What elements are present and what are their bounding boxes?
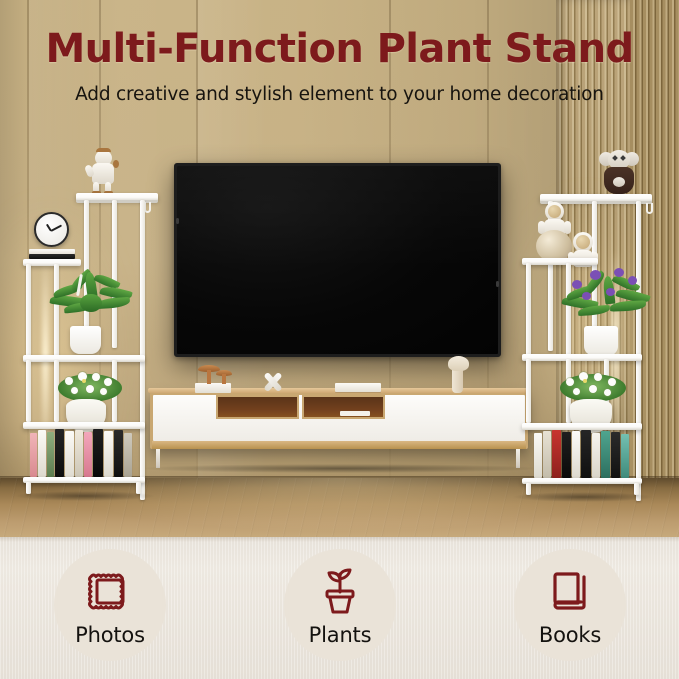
- stand-post: [26, 360, 31, 422]
- feature-label: Photos: [54, 623, 166, 647]
- copper-candle-stem: [207, 370, 211, 384]
- book-spine: [75, 430, 83, 477]
- feature-label: Plants: [284, 623, 396, 647]
- stand-base-shelf: [23, 477, 145, 483]
- tv-screen: [177, 166, 498, 354]
- left-plant-stand: [28, 150, 158, 495]
- feature-photos[interactable]: Photos: [54, 549, 166, 669]
- console-plinth: [152, 441, 526, 449]
- book-spine: [65, 431, 74, 477]
- stand-post: [26, 264, 31, 359]
- astronaut-figurine-large: [536, 202, 572, 260]
- book-spine: [562, 432, 571, 478]
- stand-post: [526, 359, 531, 423]
- book-spine: [93, 429, 103, 477]
- plant-pot-white: [584, 326, 618, 356]
- flower-bloom: [92, 373, 100, 381]
- stand-shadow: [14, 491, 156, 501]
- tv-mount-bracket: [496, 281, 499, 287]
- white-x-sculpture: [263, 372, 283, 392]
- photo-frame-icon: [82, 563, 138, 619]
- tv-console: [150, 392, 528, 468]
- wall-clock: [34, 212, 69, 247]
- console-shadow: [142, 464, 538, 473]
- book-spine: [47, 432, 54, 477]
- stand-base-shelf: [522, 478, 642, 484]
- astronaut-visor: [576, 235, 590, 249]
- astronaut-visor: [548, 205, 561, 218]
- stacked-books-decor: [335, 383, 381, 392]
- figurine-body: [92, 163, 114, 184]
- flower-bloom: [104, 378, 112, 386]
- copper-candle-stem: [222, 374, 226, 384]
- cubby-book: [340, 411, 370, 416]
- book-spine: [611, 432, 620, 478]
- book-icon: [542, 563, 598, 619]
- purple-flower: [606, 288, 615, 296]
- clock-hand-hour: [46, 224, 52, 232]
- abstract-sculpture: [447, 356, 469, 393]
- book-spine: [55, 429, 64, 477]
- product-banner: Multi-Function Plant Stand Add creative …: [0, 0, 679, 679]
- purple-flower: [572, 280, 582, 289]
- book-spine: [84, 432, 92, 477]
- figurine-accessory: [113, 160, 119, 168]
- shelf-hook-icon: [144, 202, 151, 213]
- book-spine: [534, 433, 542, 478]
- figurine-hat: [96, 148, 111, 152]
- book-spine: [30, 433, 37, 477]
- book-spine: [114, 430, 123, 477]
- book-spine: [552, 430, 561, 478]
- bear-figurine: [598, 150, 640, 196]
- purple-flower: [614, 268, 624, 277]
- book-spine: [592, 433, 600, 478]
- book-row: [30, 429, 140, 477]
- stand-shelf-bottom: [522, 423, 642, 430]
- wall-mounted-tv: [174, 163, 501, 357]
- stand-shadow: [512, 492, 654, 502]
- book-spine: [543, 431, 551, 478]
- flower-bloom: [573, 388, 580, 395]
- console-body: [150, 392, 528, 449]
- stand-post: [526, 263, 531, 359]
- book-spine: [572, 431, 580, 478]
- flower-bloom: [608, 378, 616, 386]
- flower-bloom: [594, 373, 602, 381]
- book-row: [534, 430, 640, 478]
- feature-books[interactable]: Books: [514, 549, 626, 669]
- stand-shelf-middle: [522, 354, 642, 361]
- flower-center: [82, 379, 86, 383]
- book-spine: [601, 431, 610, 478]
- bear-belly: [613, 177, 625, 187]
- stand-shelf-bottom: [23, 422, 145, 429]
- book-spine: [621, 434, 629, 478]
- book-spine: [38, 430, 46, 477]
- sitting-figurine: [86, 150, 122, 194]
- potted-plant-icon: [312, 563, 368, 619]
- shelf-hook-icon: [646, 203, 653, 214]
- book-spine: [104, 431, 113, 477]
- decor-tray: [195, 383, 231, 393]
- flower-center: [583, 379, 587, 383]
- flower-bloom: [566, 378, 574, 386]
- sculpture-head: [448, 356, 469, 371]
- book-spine: [124, 433, 132, 477]
- purple-flower: [590, 270, 601, 280]
- feature-plants[interactable]: Plants: [284, 549, 396, 669]
- flower-bloom: [86, 385, 94, 393]
- book-spine: [581, 430, 591, 478]
- feature-label: Books: [514, 623, 626, 647]
- stand-shelf-middle: [23, 355, 145, 362]
- plant-core: [80, 294, 102, 312]
- purple-flower: [582, 292, 591, 300]
- clock-hand-minute: [51, 224, 63, 231]
- flower-bloom: [65, 377, 73, 385]
- console-cubby: [302, 395, 385, 419]
- page-subtitle: Add creative and stylish element to your…: [0, 84, 679, 105]
- stand-post: [140, 200, 145, 500]
- flower-bloom: [604, 389, 611, 396]
- purple-flower-plant: [562, 268, 650, 330]
- flower-bloom: [589, 385, 597, 393]
- flower-bloom: [71, 387, 78, 394]
- purple-flower: [628, 276, 637, 285]
- tv-mount-bracket: [176, 218, 179, 224]
- plant-pot-white: [70, 326, 101, 354]
- right-plant-stand: [526, 150, 666, 495]
- green-leafy-plant: [50, 272, 134, 330]
- page-title: Multi-Function Plant Stand: [0, 26, 679, 72]
- stand-shelf-side: [23, 259, 81, 266]
- flower-bloom: [100, 388, 107, 395]
- console-cubby: [216, 395, 299, 419]
- stand-shelf-side: [522, 258, 598, 265]
